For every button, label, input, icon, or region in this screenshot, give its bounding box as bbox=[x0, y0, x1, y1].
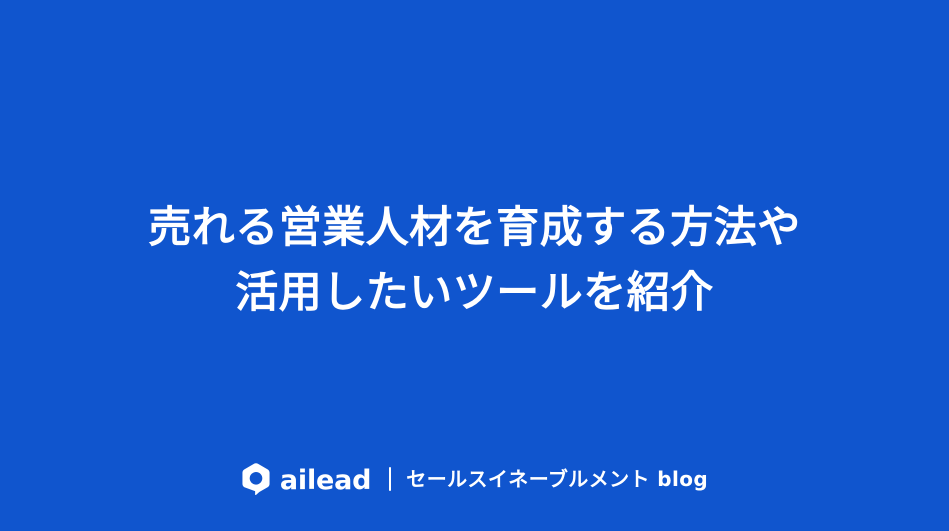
title-line-2: 活用したいツールを紹介 bbox=[235, 261, 714, 326]
page-title: 売れる営業人材を育成する方法や 活用したいツールを紹介 bbox=[0, 196, 949, 326]
blog-thumbnail-card: 売れる営業人材を育成する方法や 活用したいツールを紹介 ailead セールスイ… bbox=[0, 0, 949, 531]
footer-brand-lockup: ailead セールスイネーブルメント blog bbox=[0, 463, 949, 495]
ailead-hexagon-logo-icon bbox=[241, 463, 271, 495]
brand-logo: ailead bbox=[241, 463, 371, 495]
title-line-1: 売れる営業人材を育成する方法や bbox=[148, 196, 801, 261]
brand-divider bbox=[389, 467, 391, 491]
brand-tagline: セールスイネーブルメント blog bbox=[406, 469, 708, 489]
brand-wordmark: ailead bbox=[280, 467, 371, 494]
